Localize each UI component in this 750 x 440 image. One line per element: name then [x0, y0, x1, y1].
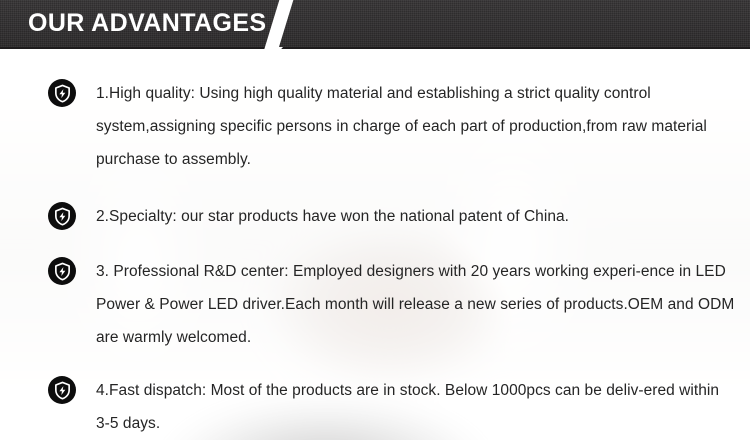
header-bottom-rule	[0, 47, 750, 49]
advantage-text: 2.Specialty: our star products have won …	[96, 200, 736, 233]
section-header-bar: OUR ADVANTAGES	[0, 0, 750, 47]
advantage-icon-wrap	[48, 202, 76, 230]
advantage-icon-wrap	[48, 79, 76, 107]
header-pointer-icon	[267, 47, 283, 56]
advantage-item-rd-center: 3. Professional R&D center: Employed des…	[0, 255, 750, 354]
advantage-text: 1.High quality: Using high quality mater…	[96, 77, 736, 176]
advantage-icon-wrap	[48, 376, 76, 404]
advantage-item-fast-dispatch: 4.Fast dispatch: Most of the products ar…	[0, 374, 750, 440]
page-title: OUR ADVANTAGES	[28, 9, 266, 37]
advantages-list: 1.High quality: Using high quality mater…	[0, 47, 750, 440]
advantage-item-specialty: 2.Specialty: our star products have won …	[0, 200, 750, 233]
advantages-page: OUR ADVANTAGES 1.High quality: Using hig…	[0, 0, 750, 440]
shield-bolt-icon	[48, 257, 76, 285]
shield-bolt-icon	[48, 202, 76, 230]
shield-bolt-icon	[48, 376, 76, 404]
advantage-icon-wrap	[48, 257, 76, 285]
shield-bolt-icon	[48, 79, 76, 107]
advantage-text: 4.Fast dispatch: Most of the products ar…	[96, 374, 736, 440]
advantage-text: 3. Professional R&D center: Employed des…	[96, 255, 736, 354]
advantage-item-high-quality: 1.High quality: Using high quality mater…	[0, 77, 750, 176]
